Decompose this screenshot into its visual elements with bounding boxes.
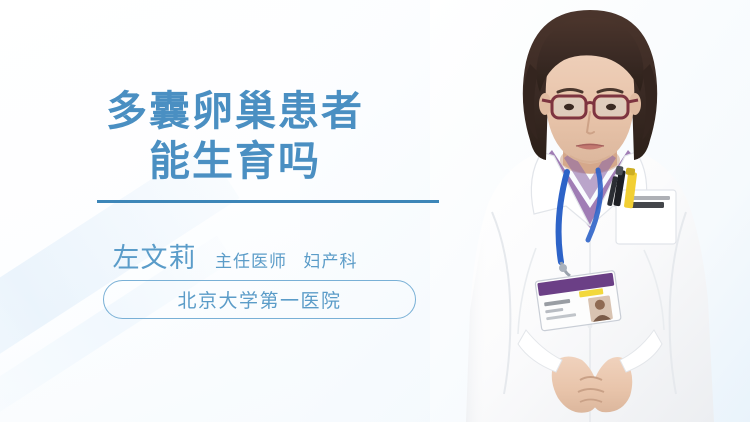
- title-divider: [97, 200, 439, 203]
- doctor-department: 妇产科: [303, 252, 357, 271]
- doctor-info-row: 左文莉 主任医师 妇产科: [0, 236, 470, 275]
- doctor-name: 左文莉: [113, 243, 197, 273]
- title-line-2: 能生育吗: [0, 136, 470, 186]
- text-content: 多囊卵巢患者 能生育吗 左文莉 主任医师 妇产科 北京大学第一医院: [0, 0, 470, 422]
- portrait-svg: [430, 0, 750, 422]
- hospital-name: 北京大学第一医院: [177, 286, 341, 313]
- hospital-badge: 北京大学第一医院: [103, 280, 416, 319]
- doctor-portrait-image: [430, 0, 750, 422]
- title-line-1: 多囊卵巢患者: [106, 88, 364, 134]
- page-title: 多囊卵巢患者 能生育吗: [0, 86, 470, 186]
- doctor-rank: 主任医师: [215, 252, 287, 271]
- video-cover-card: 多囊卵巢患者 能生育吗 左文莉 主任医师 妇产科 北京大学第一医院: [0, 0, 750, 422]
